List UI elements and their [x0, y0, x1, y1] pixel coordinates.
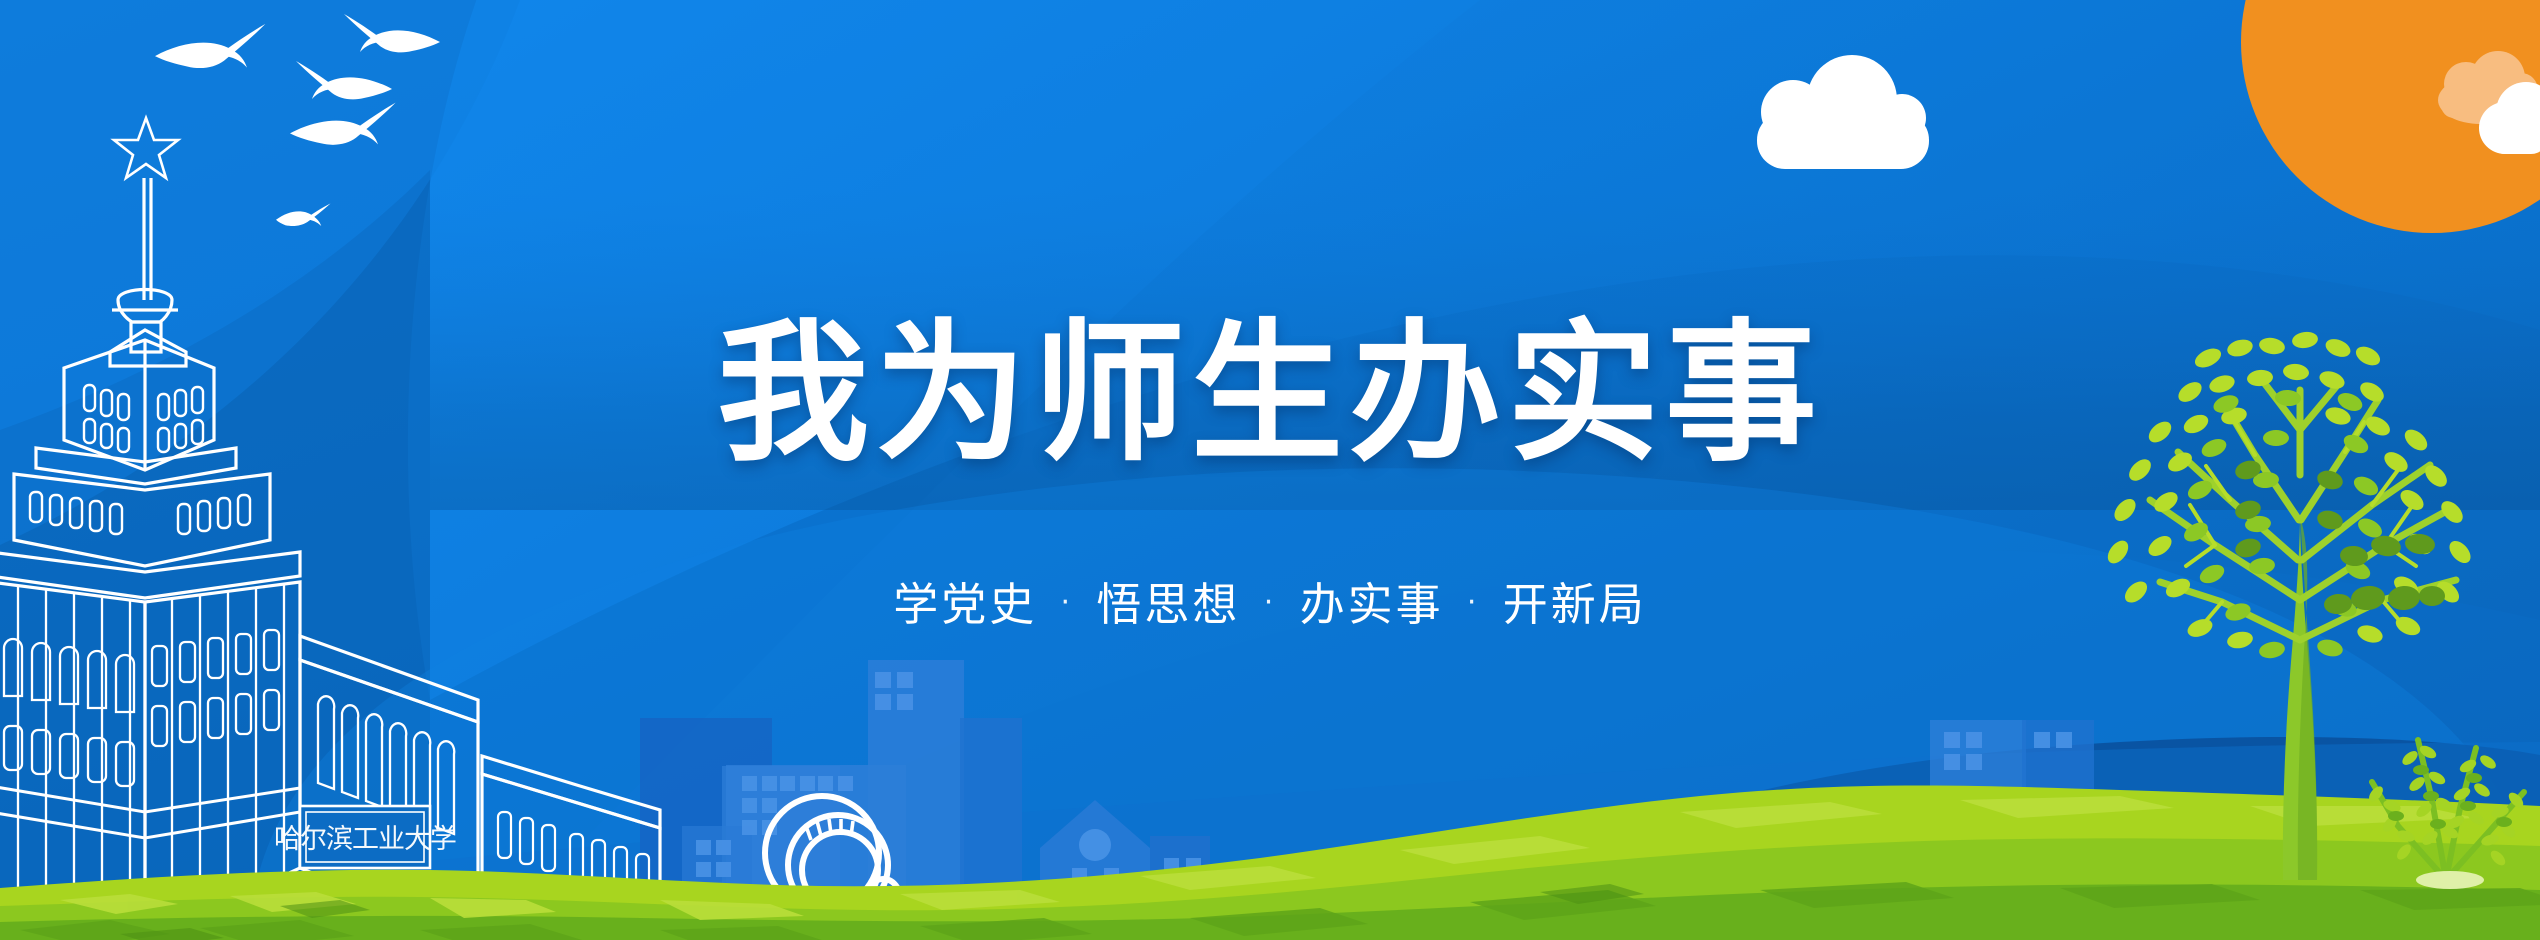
campus-banner: 哈尔滨工业大学 — [0, 0, 2540, 940]
vegetation-layer — [0, 0, 2540, 940]
shrub-leaves — [2366, 743, 2525, 868]
large-green-tree-icon — [2104, 330, 2475, 880]
shrub-base — [2416, 871, 2484, 889]
tree-leaves — [2104, 330, 2475, 660]
small-green-shrub-icon — [2366, 740, 2525, 889]
